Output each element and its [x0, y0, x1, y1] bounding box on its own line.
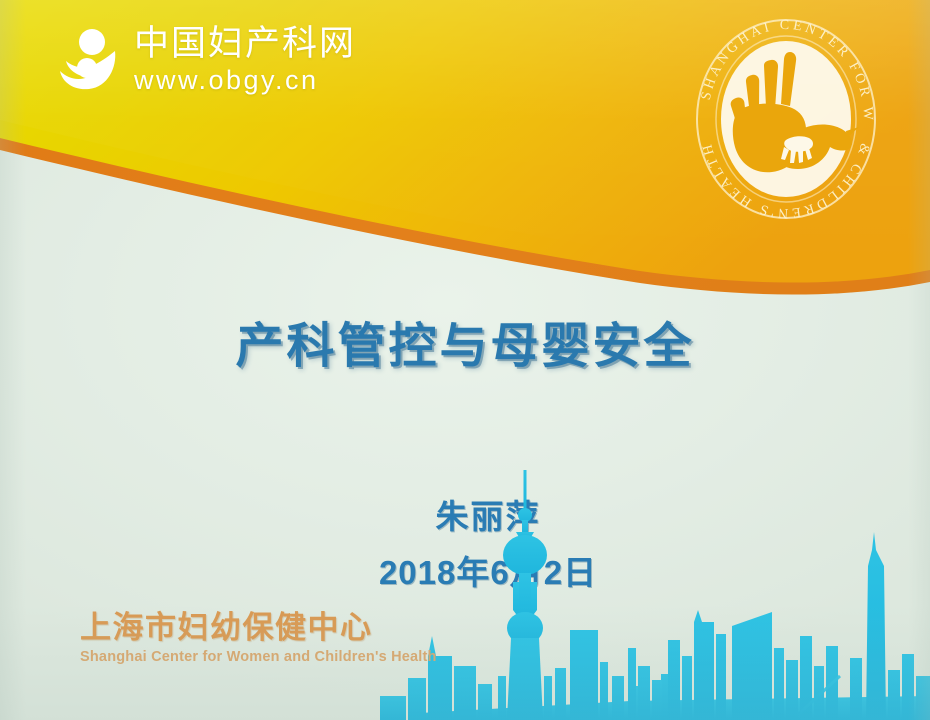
institution-name-en: Shanghai Center for Women and Children's…: [80, 650, 437, 665]
watermark-site-name: 中国妇产科网: [134, 26, 356, 61]
mother-and-child-icon: [58, 27, 120, 93]
organization-emblem: SHANGHAI CENTER FOR WOMEN & CHILDREN'S H…: [686, 14, 886, 224]
watermark-url: www.obgy.cn: [134, 67, 356, 94]
institution-name-cn: 上海市妇幼保健中心: [80, 612, 437, 643]
institution-block: 上海市妇幼保健中心 Shanghai Center for Women and …: [80, 612, 437, 665]
shanghai-skyline-silhouette: [380, 470, 930, 720]
slide-title: 产科管控与母婴安全: [0, 306, 930, 376]
presentation-slide: SHANGHAI CENTER FOR WOMEN & CHILDREN'S H…: [0, 0, 930, 720]
oriental-pearl-tower-icon: [498, 470, 552, 720]
site-watermark: 中国妇产科网 www.obgy.cn: [58, 26, 356, 94]
